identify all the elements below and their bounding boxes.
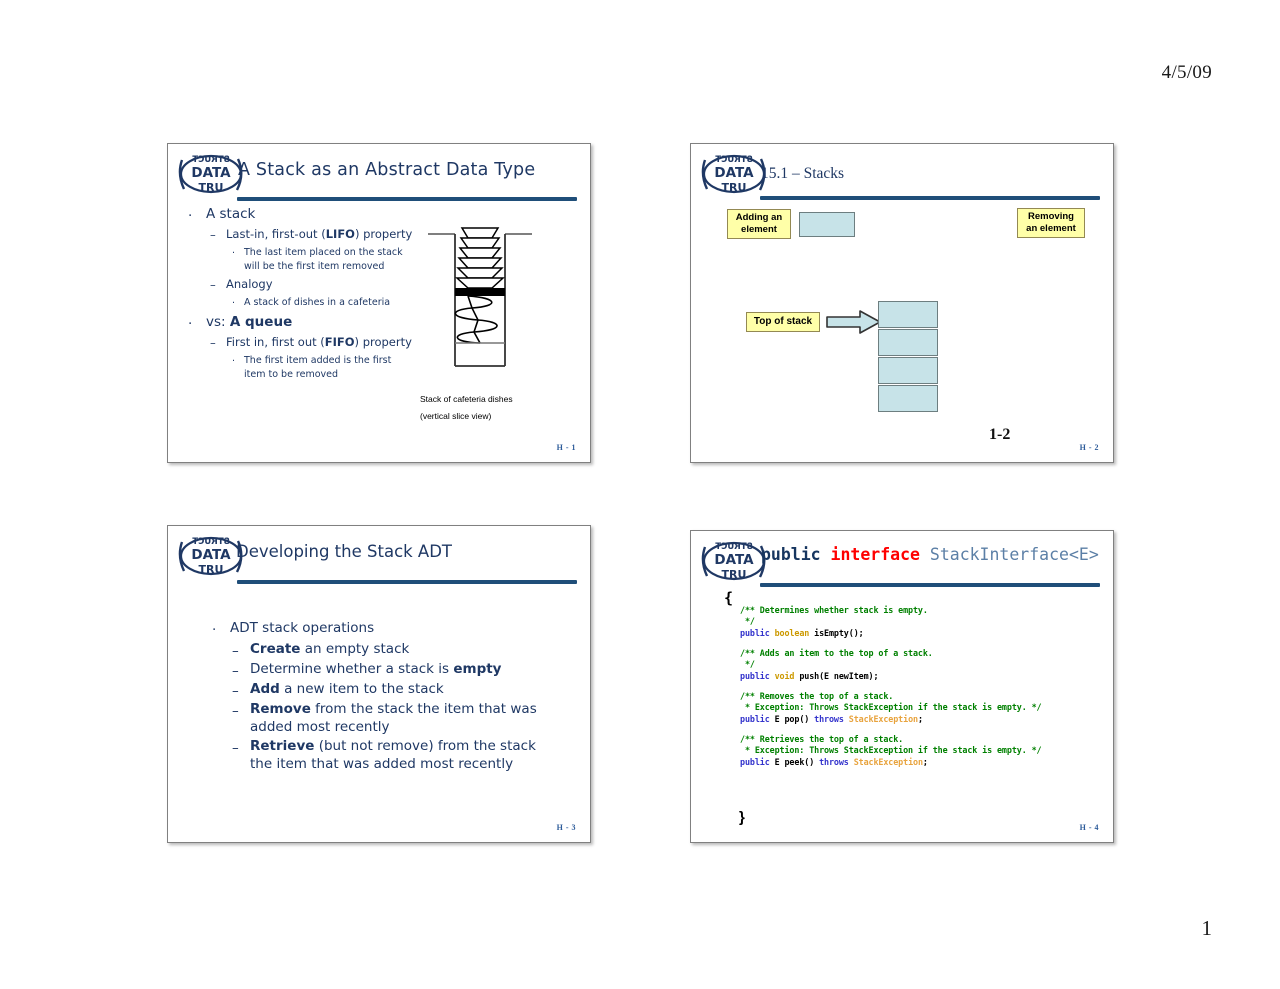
slide-3-title-rule — [237, 580, 577, 584]
bullet-marker: – — [210, 278, 216, 292]
code-statement-line: public E pop() throws StackException; — [740, 714, 1041, 725]
svg-text:STRUCT: STRUCT — [192, 537, 230, 547]
code-comment-line: */ — [740, 616, 1041, 627]
bullet-marker: – — [210, 228, 216, 242]
code-comment-line: /** Retrieves the top of a stack. — [740, 734, 1041, 745]
slide-1-title-rule — [237, 197, 577, 201]
interface-name: StackInterface<E> — [930, 545, 1099, 564]
code-comment-line: /** Adds an item to the top of a stack. — [740, 648, 1041, 659]
slide-3-title: Developing the Stack ADT — [236, 542, 452, 561]
code-lines: /** Determines whether stack is empty. *… — [740, 605, 1041, 768]
stack-cell — [878, 357, 938, 384]
code-token: E pop() — [775, 714, 815, 724]
code-statement-line: public boolean isEmpty(); — [740, 628, 1041, 639]
slide-1[interactable]: STRUCT DATA TRU A Stack as an Abstract D… — [167, 143, 591, 463]
slide-1-footer-marker: H - 1 — [557, 443, 576, 452]
slide-4-title-rule — [760, 583, 1100, 587]
bullet-marker: – — [232, 643, 239, 659]
svg-text:TRU: TRU — [722, 181, 747, 194]
svg-text:TRU: TRU — [199, 181, 224, 194]
close-brace: } — [739, 809, 745, 826]
removing-line-1: Removing — [1028, 211, 1074, 222]
bullet-remove-cont: added most recently — [250, 719, 389, 735]
bullet-add: Add a new item to the stack — [250, 681, 444, 697]
tru-data-logo: STRUCT DATA TRU — [176, 150, 246, 202]
slide-1-title: A Stack as an Abstract Data Type — [238, 160, 535, 180]
svg-text:DATA: DATA — [191, 165, 231, 181]
bullet-retrieve-cont: the item that was added most recently — [250, 756, 513, 772]
bullet-marker: · — [232, 356, 235, 367]
svg-text:STRUCT: STRUCT — [715, 542, 753, 552]
figure-caption-line1: Stack of cafeteria dishes — [420, 394, 513, 404]
code-token: throws — [819, 757, 854, 767]
bullet-marker: · — [188, 316, 192, 332]
bullet-marker: – — [210, 336, 216, 350]
code-statement-line: public void push(E newItem); — [740, 671, 1041, 682]
pointer-arrow-icon — [826, 309, 882, 335]
label-top-of-stack: Top of stack — [746, 312, 820, 332]
bullet-fifo: First in, first out (FIFO) property — [226, 335, 412, 349]
svg-text:TRU: TRU — [199, 563, 224, 576]
code-token: public — [740, 628, 775, 638]
tru-data-logo: STRUCT DATA TRU — [699, 150, 769, 202]
code-token: ; — [923, 757, 928, 767]
bullet-analogy: Analogy — [226, 277, 273, 291]
code-comment-line: * Exception: Throws StackException if th… — [740, 745, 1041, 756]
code-statement-line: public E peek() throws StackException; — [740, 757, 1041, 768]
kw-public: public — [761, 545, 821, 564]
bullet-marker: – — [232, 663, 239, 679]
bullet-analogy-detail: A stack of dishes in a cafeteria — [244, 297, 390, 308]
svg-text:STRUCT: STRUCT — [192, 155, 230, 165]
label-adding-an-element: Adding an element — [727, 209, 791, 239]
code-token: StackException — [854, 757, 923, 767]
adding-line-2: element — [741, 224, 777, 235]
slide-3-footer-marker: H - 3 — [557, 823, 576, 832]
figure-caption-line2: (vertical slice view) — [420, 411, 491, 421]
svg-text:STRUCT: STRUCT — [715, 155, 753, 165]
slide-4-title: public interface StackInterface<E> — [761, 545, 1099, 564]
bullet-lifo: Last-in, first-out (LIFO) property — [226, 227, 412, 241]
adding-line-1: Adding an — [736, 212, 782, 223]
code-token: StackException — [849, 714, 918, 724]
bullet-marker: – — [232, 740, 239, 756]
code-token: isEmpty(); — [814, 628, 863, 638]
bullet-create: Create an empty stack — [250, 641, 409, 657]
code-token: public — [740, 714, 775, 724]
cafeteria-dish-stack-diagram — [420, 226, 540, 371]
slide-4-footer-marker: H - 4 — [1080, 823, 1099, 832]
stack-cell — [878, 329, 938, 356]
bullet-marker: – — [232, 683, 239, 699]
stack-cell — [878, 301, 938, 328]
bullet-marker: · — [188, 208, 192, 224]
svg-text:TRU: TRU — [722, 568, 747, 581]
bullet-marker: · — [232, 248, 235, 259]
bullet-retrieve: Retrieve (but not remove) from the stack — [250, 738, 536, 754]
bullet-fifo-detail-2: item to be removed — [244, 369, 338, 380]
bullet-lifo-detail-1: The last item placed on the stack — [244, 247, 403, 258]
code-blank-line — [740, 639, 1041, 648]
page-date: 4/5/09 — [1162, 62, 1212, 84]
bullet-remove: Remove from the stack the item that was — [250, 701, 537, 717]
tru-data-logo: STRUCT DATA TRU — [699, 537, 769, 589]
code-comment-line: /** Removes the top of a stack. — [740, 691, 1041, 702]
bullet-adt-stack-operations: ADT stack operations — [230, 620, 374, 636]
bullet-marker: · — [232, 298, 235, 309]
slide-2-title-rule — [760, 196, 1100, 200]
slide-2-footer-number: 1-2 — [989, 426, 1010, 444]
code-comment-line: /** Determines whether stack is empty. — [740, 605, 1041, 616]
slide-3[interactable]: STRUCT DATA TRU Developing the Stack ADT… — [167, 525, 591, 843]
code-comment-line: */ — [740, 659, 1041, 670]
floating-stack-element — [799, 212, 855, 237]
bullet-marker: – — [232, 703, 239, 719]
bullet-vs-queue: vs: A queue — [206, 314, 292, 330]
bullet-marker: · — [212, 622, 216, 638]
bullet-fifo-detail-1: The first item added is the first — [244, 355, 391, 366]
label-removing-an-element: Removing an element — [1017, 208, 1085, 238]
code-token: public — [740, 757, 775, 767]
code-comment-line: * Exception: Throws StackException if th… — [740, 702, 1041, 713]
slide-2[interactable]: STRUCT DATA TRU 15.1 – Stacks Adding an … — [690, 143, 1114, 463]
svg-text:DATA: DATA — [714, 552, 754, 568]
kw-interface: interface — [831, 545, 920, 564]
page-number: 1 — [1202, 916, 1213, 941]
slide-2-title: 15.1 – Stacks — [761, 165, 844, 183]
slide-4[interactable]: STRUCT DATA TRU public interface StackIn… — [690, 530, 1114, 843]
code-token: ; — [918, 714, 923, 724]
svg-text:DATA: DATA — [191, 547, 231, 563]
code-blank-line — [740, 725, 1041, 734]
bullet-a-stack: A stack — [206, 206, 255, 222]
svg-text:DATA: DATA — [714, 165, 754, 181]
code-token: void — [775, 671, 800, 681]
code-token: E peek() — [775, 757, 819, 767]
code-token: public — [740, 671, 775, 681]
bullet-determine-empty: Determine whether a stack is empty — [250, 661, 501, 677]
code-token: throws — [814, 714, 849, 724]
stack-cell — [878, 385, 938, 412]
code-block: { /** Determines whether stack is empty.… — [724, 589, 1041, 768]
slide-2-footer-marker: H - 2 — [1080, 443, 1099, 452]
bullet-lifo-detail-2: will be the first item removed — [244, 261, 384, 272]
code-token: boolean — [775, 628, 815, 638]
removing-line-2: an element — [1026, 223, 1076, 234]
code-token: push(E newItem); — [799, 671, 878, 681]
code-blank-line — [740, 682, 1041, 691]
